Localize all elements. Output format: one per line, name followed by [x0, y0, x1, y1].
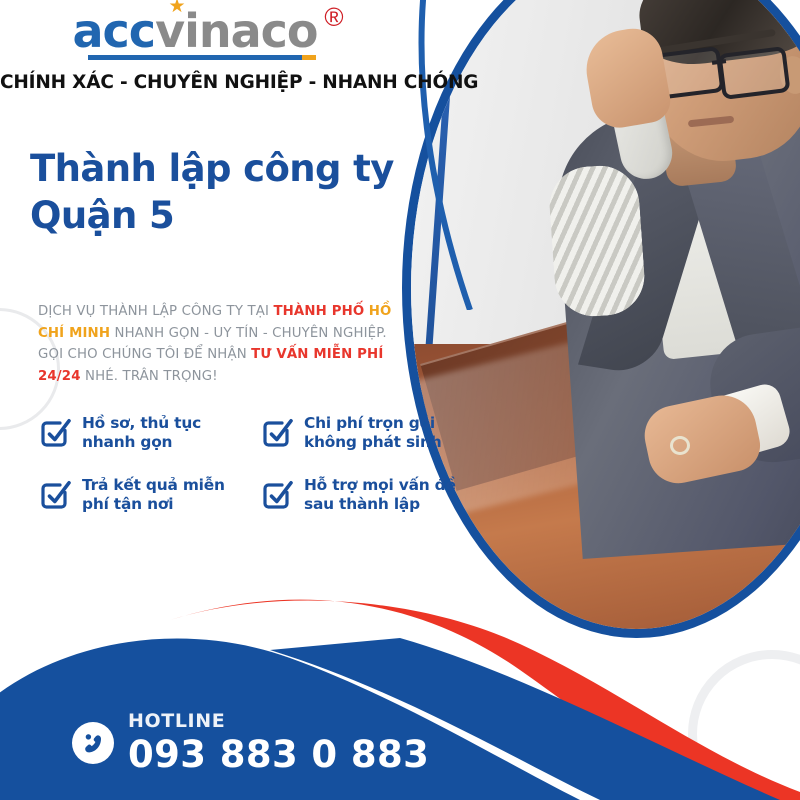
phone-handset-icon: [72, 722, 114, 764]
feature-item-3: Trả kết quả miễn phí tận nơi: [38, 476, 260, 538]
hotline-label: HOTLINE: [128, 712, 429, 731]
company-logo: ★ ® accvinaco CHÍNH XÁC - CHUYÊN NGHIỆP …: [0, 8, 390, 93]
checkbox-check-icon: [260, 416, 294, 450]
description-text-6: NHÉ. TRÂN TRỌNG!: [81, 369, 218, 384]
feature-label: Chi phí trọn gói không phát sinh: [304, 414, 442, 453]
decorative-circle-right: [688, 650, 800, 800]
star-icon: ★: [169, 0, 186, 16]
hotline-number[interactable]: 093 883 0 883: [128, 736, 429, 773]
feature-list: Hồ sơ, thủ tục nhanh gọnChi phí trọn gói…: [38, 414, 478, 538]
logo-underline: [88, 55, 302, 60]
logo-wordmark: ★ ® accvinaco: [73, 8, 318, 60]
description-highlight-red: THÀNH PHỐ: [273, 304, 364, 319]
headline-line-2: Quận 5: [30, 192, 430, 239]
checkbox-check-icon: [38, 416, 72, 450]
feature-item-2: Chi phí trọn gói không phát sinh: [260, 414, 478, 476]
description-text-0: DỊCH VỤ THÀNH LẬP CÔNG TY TẠI: [38, 304, 273, 319]
checkbox-check-icon: [260, 478, 294, 512]
logo-text-acc: acc: [73, 4, 156, 58]
feature-item-1: Hồ sơ, thủ tục nhanh gọn: [38, 414, 260, 476]
headline-line-1: Thành lập công ty: [30, 145, 430, 192]
registered-trademark-icon: ®: [324, 4, 343, 30]
hotline-block[interactable]: HOTLINE 093 883 0 883: [72, 712, 429, 773]
page-title: Thành lập công ty Quận 5: [30, 145, 430, 240]
checkbox-check-icon: [38, 478, 72, 512]
description-paragraph: DỊCH VỤ THÀNH LẬP CÔNG TY TẠI THÀNH PHỐ …: [38, 301, 404, 387]
feature-label: Hỗ trợ mọi vấn đề sau thành lập: [304, 476, 456, 515]
brand-tagline: CHÍNH XÁC - CHUYÊN NGHIỆP - NHANH CHÓNG: [0, 72, 390, 93]
feature-label: Trả kết quả miễn phí tận nơi: [82, 476, 225, 515]
feature-label: Hồ sơ, thủ tục nhanh gọn: [82, 414, 201, 453]
feature-item-4: Hỗ trợ mọi vấn đề sau thành lập: [260, 476, 478, 538]
promo-banner: ★ ® accvinaco CHÍNH XÁC - CHUYÊN NGHIỆP …: [0, 0, 800, 800]
businessman-on-telephone-photo: [402, 0, 800, 638]
